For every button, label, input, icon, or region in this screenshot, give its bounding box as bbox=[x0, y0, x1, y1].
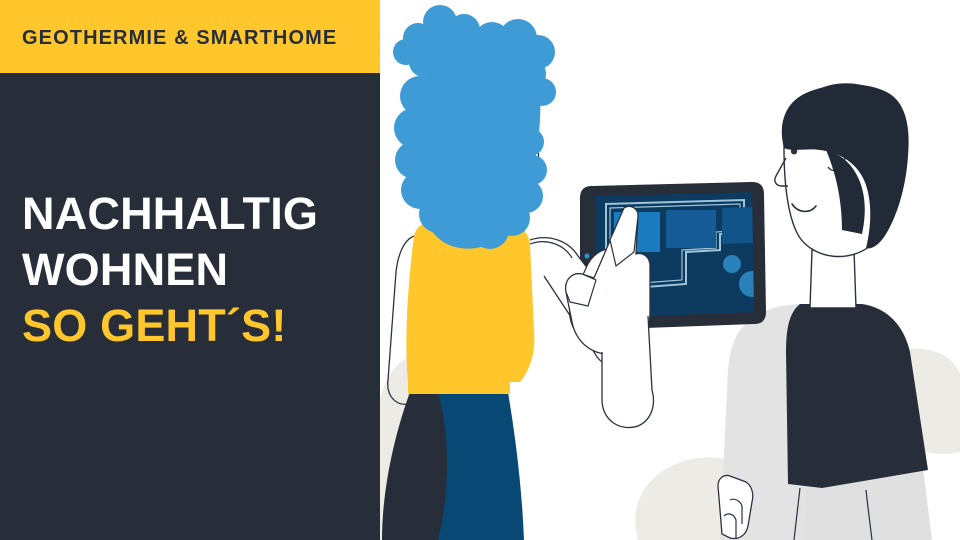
headline-line-3: SO GEHT´S! bbox=[22, 298, 362, 354]
man-coat-icon bbox=[786, 304, 928, 488]
floorplan-room-3[interactable] bbox=[722, 206, 782, 244]
man-hand-icon bbox=[718, 475, 753, 538]
eyebrow-banner: GEOTHERMIE & SMARTHOME bbox=[0, 0, 380, 73]
poster-canvas: GEOTHERMIE & SMARTHOME NACHHALTIG WOHNEN… bbox=[0, 0, 960, 540]
illustration-area bbox=[380, 0, 960, 540]
woman-skirt-blue-icon bbox=[438, 392, 524, 540]
headline-block: NACHHALTIG WOHNEN SO GEHT´S! bbox=[22, 186, 362, 354]
floorplan-marker-2-icon[interactable] bbox=[723, 255, 741, 273]
illustration-svg bbox=[380, 0, 960, 540]
tablet-camera-icon bbox=[584, 253, 589, 258]
eyebrow-label: GEOTHERMIE & SMARTHOME bbox=[22, 27, 337, 50]
headline-line-1: NACHHALTIG bbox=[22, 186, 362, 242]
headline-line-2: WOHNEN bbox=[22, 242, 362, 298]
figure-woman bbox=[382, 5, 653, 540]
man-neck-icon bbox=[810, 250, 856, 308]
floorplan-room-2[interactable] bbox=[666, 210, 716, 248]
left-text-panel: GEOTHERMIE & SMARTHOME NACHHALTIG WOHNEN… bbox=[0, 0, 380, 540]
